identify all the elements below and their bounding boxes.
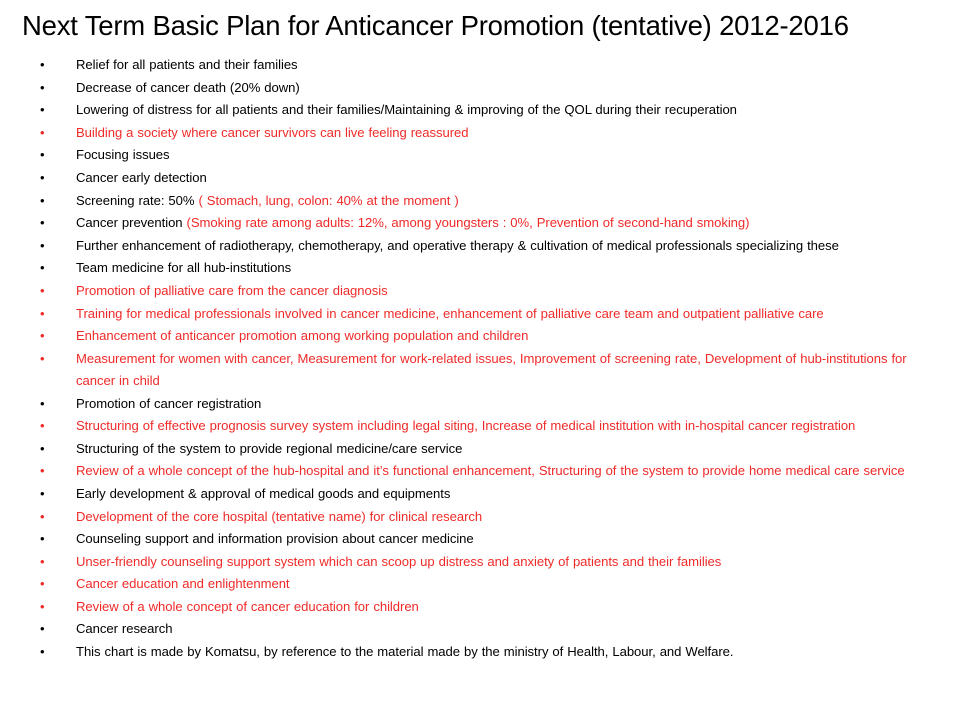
list-item-label: Promotion of palliative care from the ca… xyxy=(76,280,944,303)
list-item[interactable]: •Team medicine for all hub-institutions xyxy=(0,257,960,280)
list-item-text-segment: Promotion of cancer registration xyxy=(76,396,261,411)
bullet-point-icon: • xyxy=(40,641,54,664)
list-item[interactable]: •Enhancement of anticancer promotion amo… xyxy=(0,325,960,348)
list-item-text-segment: Cancer prevention xyxy=(76,215,187,230)
list-item-label: Cancer prevention (Smoking rate among ad… xyxy=(76,212,944,235)
list-item-text-segment: Measurement for women with cancer, Measu… xyxy=(76,351,907,388)
list-item[interactable]: •Cancer research xyxy=(0,618,960,641)
list-item-text-segment: (Smoking rate among adults: 12%, among y… xyxy=(187,215,750,230)
list-item[interactable]: •Focusing issues xyxy=(0,144,960,167)
list-item[interactable]: •Cancer education and enlightenment xyxy=(0,573,960,596)
list-item-label: Training for medical professionals invol… xyxy=(76,303,944,326)
bullet-point-icon: • xyxy=(40,393,54,416)
list-item[interactable]: •Promotion of palliative care from the c… xyxy=(0,280,960,303)
bullet-point-icon: • xyxy=(40,303,54,326)
list-item-text-segment: Early development & approval of medical … xyxy=(76,486,450,501)
bullet-point-icon: • xyxy=(40,438,54,461)
bullet-point-icon: • xyxy=(40,483,54,506)
list-item-text-segment: Cancer early detection xyxy=(76,170,207,185)
list-item-label: Structuring of the system to provide reg… xyxy=(76,438,944,461)
list-item[interactable]: •Screening rate: 50% ( Stomach, lung, co… xyxy=(0,190,960,213)
bullet-point-icon: • xyxy=(40,348,54,371)
bullet-point-icon: • xyxy=(40,190,54,213)
bullet-point-icon: • xyxy=(40,167,54,190)
list-item-text-segment: Screening rate: 50% xyxy=(76,193,195,208)
list-item-label: Review of a whole concept of the hub-hos… xyxy=(76,460,944,482)
list-item-label: Development of the core hospital (tentat… xyxy=(76,506,944,529)
list-item-label: Unser-friendly counseling support system… xyxy=(76,551,944,574)
list-item-text-segment: Counseling support and information provi… xyxy=(76,531,474,546)
list-item-label: Further enhancement of radiotherapy, che… xyxy=(76,235,944,258)
list-item-text-segment: Structuring of the system to provide reg… xyxy=(76,441,462,456)
bullet-point-icon: • xyxy=(40,280,54,303)
list-item[interactable]: •Decrease of cancer death (20% down) xyxy=(0,77,960,100)
list-item[interactable]: •Unser-friendly counseling support syste… xyxy=(0,551,960,574)
list-item-text-segment: This chart is made by Komatsu, by refere… xyxy=(76,644,734,659)
bullet-point-icon: • xyxy=(40,99,54,122)
list-item-label: Cancer early detection xyxy=(76,167,944,190)
list-item-label: Team medicine for all hub-institutions xyxy=(76,257,944,280)
list-item-text-segment: Decrease of cancer death (20% down) xyxy=(76,80,300,95)
list-item-text-segment: Further enhancement of radiotherapy, che… xyxy=(76,238,839,253)
list-item-label: Structuring of effective prognosis surve… xyxy=(76,415,944,437)
bullet-point-icon: • xyxy=(40,506,54,529)
bullet-point-icon: • xyxy=(40,460,54,483)
list-item-label: Promotion of cancer registration xyxy=(76,393,944,416)
list-item-label: Cancer education and enlightenment xyxy=(76,573,944,596)
list-item[interactable]: •Relief for all patients and their famil… xyxy=(0,54,960,77)
list-item[interactable]: •Review of a whole concept of cancer edu… xyxy=(0,596,960,619)
list-item[interactable]: •Further enhancement of radiotherapy, ch… xyxy=(0,235,960,258)
list-item-text-segment: Promotion of palliative care from the ca… xyxy=(76,283,388,298)
bullet-point-icon: • xyxy=(40,144,54,167)
bullet-point-icon: • xyxy=(40,235,54,258)
list-item-label: Lowering of distress for all patients an… xyxy=(76,99,944,122)
bullet-point-icon: • xyxy=(40,596,54,619)
list-item-label: Cancer research xyxy=(76,618,944,641)
bullet-point-icon: • xyxy=(40,212,54,235)
bullet-point-icon: • xyxy=(40,573,54,596)
bullet-point-icon: • xyxy=(40,257,54,280)
list-item[interactable]: •Cancer early detection xyxy=(0,167,960,190)
list-item-label: Review of a whole concept of cancer educ… xyxy=(76,596,944,619)
list-item-label: Relief for all patients and their famili… xyxy=(76,54,944,77)
list-item[interactable]: •Counseling support and information prov… xyxy=(0,528,960,551)
list-item[interactable]: •Measurement for women with cancer, Meas… xyxy=(0,348,960,393)
list-item[interactable]: •Structuring of the system to provide re… xyxy=(0,438,960,461)
bullet-point-icon: • xyxy=(40,54,54,77)
list-item[interactable]: •Building a society where cancer survivo… xyxy=(0,122,960,145)
bullet-point-icon: • xyxy=(40,122,54,145)
list-item-label: Screening rate: 50% ( Stomach, lung, col… xyxy=(76,190,944,213)
list-item[interactable]: •Early development & approval of medical… xyxy=(0,483,960,506)
slide-canvas: Next Term Basic Plan for Anticancer Prom… xyxy=(0,0,960,720)
list-item-label: Enhancement of anticancer promotion amon… xyxy=(76,325,944,348)
list-item-text-segment: Cancer education and enlightenment xyxy=(76,576,290,591)
list-item[interactable]: •Lowering of distress for all patients a… xyxy=(0,99,960,122)
list-item-text-segment: Structuring of effective prognosis surve… xyxy=(76,418,855,433)
list-item-label: Measurement for women with cancer, Measu… xyxy=(76,348,944,393)
list-item[interactable]: •Structuring of effective prognosis surv… xyxy=(0,415,960,438)
list-item-label: Focusing issues xyxy=(76,144,944,167)
list-item-text-segment: Review of a whole concept of the hub-hos… xyxy=(76,463,905,478)
list-item[interactable]: •Promotion of cancer registration xyxy=(0,393,960,416)
list-item[interactable]: •Development of the core hospital (tenta… xyxy=(0,506,960,529)
page-title: Next Term Basic Plan for Anticancer Prom… xyxy=(22,9,938,43)
list-item-text-segment: Training for medical professionals invol… xyxy=(76,306,824,321)
list-item[interactable]: •This chart is made by Komatsu, by refer… xyxy=(0,641,960,664)
list-item-text-segment: Development of the core hospital (tentat… xyxy=(76,509,482,524)
list-item-text-segment: ( Stomach, lung, colon: 40% at the momen… xyxy=(195,193,459,208)
list-item-text-segment: Team medicine for all hub-institutions xyxy=(76,260,291,275)
bullet-point-icon: • xyxy=(40,77,54,100)
list-item-text-segment: Lowering of distress for all patients an… xyxy=(76,102,737,117)
list-item-text-segment: Focusing issues xyxy=(76,147,170,162)
list-item-text-segment: Unser-friendly counseling support system… xyxy=(76,554,721,569)
list-item-label: Early development & approval of medical … xyxy=(76,483,944,506)
list-item-text-segment: Review of a whole concept of cancer educ… xyxy=(76,599,419,614)
list-item-text-segment: Enhancement of anticancer promotion amon… xyxy=(76,328,528,343)
list-item[interactable]: •Training for medical professionals invo… xyxy=(0,303,960,326)
list-item[interactable]: • Review of a whole concept of the hub-h… xyxy=(0,460,960,483)
bullet-point-icon: • xyxy=(40,528,54,551)
list-item-label: This chart is made by Komatsu, by refere… xyxy=(76,641,944,664)
list-item-label: Counseling support and information provi… xyxy=(76,528,944,551)
bullet-point-icon: • xyxy=(40,551,54,574)
list-item-text-segment: Relief for all patients and their famili… xyxy=(76,57,298,72)
list-item-text-segment: Building a society where cancer survivor… xyxy=(76,125,468,140)
bullet-point-icon: • xyxy=(40,618,54,641)
list-item-label: Decrease of cancer death (20% down) xyxy=(76,77,944,100)
bullet-point-icon: • xyxy=(40,325,54,348)
bullet-list: •Relief for all patients and their famil… xyxy=(0,54,960,664)
list-item-label: Building a society where cancer survivor… xyxy=(76,122,944,145)
list-item-text-segment: Cancer research xyxy=(76,621,172,636)
list-item[interactable]: •Cancer prevention (Smoking rate among a… xyxy=(0,212,960,235)
bullet-point-icon: • xyxy=(40,415,54,438)
